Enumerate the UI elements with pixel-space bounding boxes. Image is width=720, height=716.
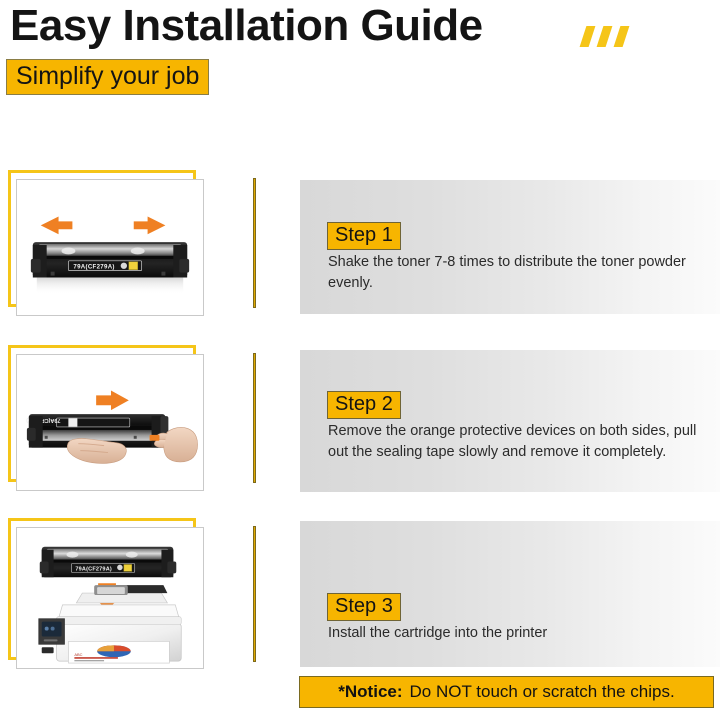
step-row-1: 79A(CF279A) Step 1 Shake the toner 7-8 t… (0, 170, 720, 320)
three-slanted-bars-icon (583, 26, 635, 50)
section-divider-1 (253, 178, 256, 308)
section-divider-3 (253, 526, 256, 662)
step-text-panel-3: Step 3 Install the cartridge into the pr… (300, 521, 720, 667)
notice-bar: *Notice: Do NOT touch or scratch the chi… (299, 676, 714, 708)
step-image-1: 79A(CF279A) (16, 179, 204, 316)
page-header: Easy Installation Guide Simplify your jo… (0, 0, 720, 150)
step-badge-2: Step 2 (327, 391, 401, 419)
step-image-3: 79A(CF279A) (16, 527, 204, 669)
cartridge-into-printer-illustration: 79A(CF279A) (17, 528, 203, 668)
step-text-panel-2: Step 2 Remove the orange protective devi… (300, 350, 720, 492)
step-badge-1: Step 1 (327, 222, 401, 250)
toner-cartridge-shaking-illustration: 79A(CF279A) (17, 180, 203, 315)
notice-label: *Notice: (338, 682, 402, 702)
cartridge-label-text: 79A(CF279A) (73, 264, 114, 271)
hand-pulling-sealing-tape-illustration: 79A(CF279A) (17, 355, 203, 490)
section-divider-2 (253, 353, 256, 483)
cartridge-label-text: 79A(CF279A) (75, 566, 112, 572)
subtitle-badge: Simplify your job (6, 59, 209, 95)
step-description-2: Remove the orange protective devices on … (328, 421, 700, 463)
step-description-1: Shake the toner 7-8 times to distribute … (328, 252, 700, 294)
step-badge-3: Step 3 (327, 593, 401, 621)
sealing-tape-tab (150, 435, 160, 441)
step-row-3: 79A(CF279A) (0, 518, 720, 670)
svg-text:ABC: ABC (74, 652, 82, 657)
notice-text: Do NOT touch or scratch the chips. (410, 682, 675, 702)
step-image-2: 79A(CF279A) (16, 354, 204, 491)
page-title: Easy Installation Guide (10, 2, 483, 50)
toner-cartridge: 79A(CF279A) (31, 242, 189, 277)
cartridge-reflection (37, 278, 183, 295)
step-row-2: 79A(CF279A) (0, 345, 720, 495)
toner-cartridge: 79A(CF279A) (40, 547, 177, 578)
step-text-panel-1: Step 1 Shake the toner 7-8 times to dist… (300, 180, 720, 314)
step-description-3: Install the cartridge into the printer (328, 623, 700, 644)
